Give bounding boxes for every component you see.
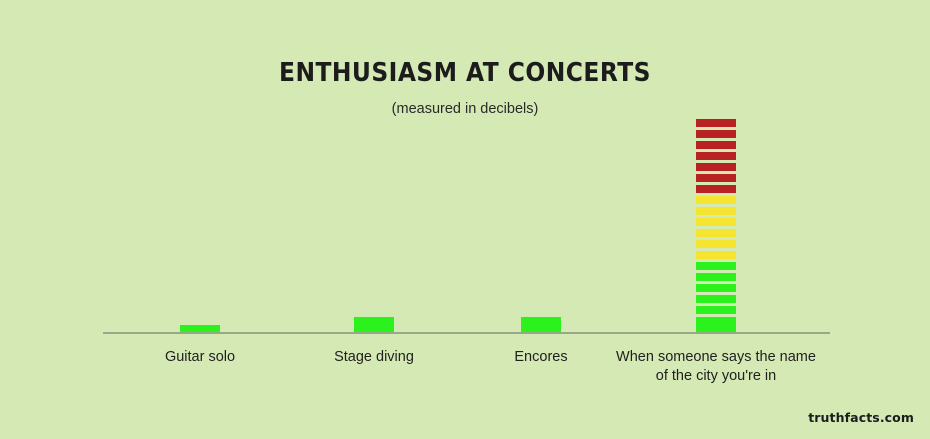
bar-segment (696, 218, 736, 226)
bar-segment (696, 240, 736, 248)
chart-title: ENTHUSIASM AT CONCERTS (47, 60, 884, 86)
bar-stage-diving (354, 314, 394, 333)
x-axis-baseline (103, 332, 830, 334)
bar-segment (354, 317, 394, 325)
bar-segment (521, 317, 561, 325)
chart-canvas: ENTHUSIASM AT CONCERTS (measured in deci… (0, 0, 930, 439)
bar-segment (696, 119, 736, 127)
bar-segment (696, 163, 736, 171)
bar-segment (696, 185, 736, 193)
category-label-4: When someone says the name of the city y… (601, 348, 831, 386)
bar-segment (696, 152, 736, 160)
bar-segment (696, 273, 736, 281)
bar-segment (696, 284, 736, 292)
bar-segment (696, 196, 736, 204)
bar-segment (696, 262, 736, 270)
bar-segment (696, 141, 736, 149)
bar-segment (696, 174, 736, 182)
bar-segment (696, 295, 736, 303)
bar-encores (521, 314, 561, 333)
bar-segment (696, 229, 736, 237)
plot-area (103, 110, 830, 333)
bar-segment (696, 306, 736, 314)
bar-segment (696, 251, 736, 259)
bar-when-someone-says-the-name-of-the-city-you-re-in (696, 116, 736, 333)
bar-segment (696, 207, 736, 215)
watermark-credit: truthfacts.com (808, 410, 914, 425)
bar-segment (696, 130, 736, 138)
bar-segment (696, 317, 736, 325)
